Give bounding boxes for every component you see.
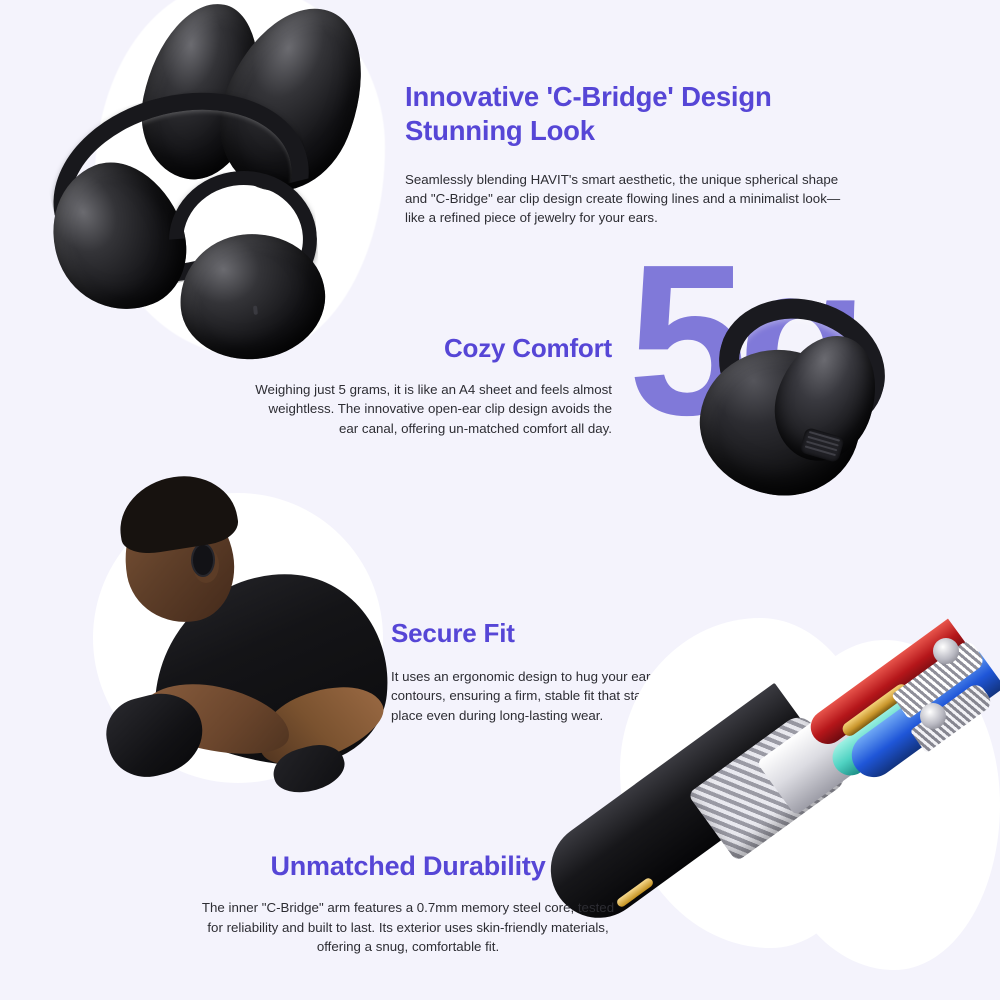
section-body: The inner "C-Bridge" arm features a 0.7m…	[198, 898, 618, 956]
cable-strand-tip-lower	[920, 703, 946, 729]
microphone-pinhole-icon	[253, 306, 258, 315]
section-cozy-comfort-text: Cozy Comfort Weighing just 5 grams, it i…	[255, 333, 612, 438]
twin-open-ear-earbuds-photo	[40, 0, 440, 382]
section-unmatched-durability-text: Unmatched Durability The inner "C-Bridge…	[198, 850, 618, 956]
section-heading: Cozy Comfort	[255, 333, 612, 364]
section-c-bridge-design-text: Innovative 'C-Bridge' Design Stunning Lo…	[405, 80, 855, 228]
product-infographic-page: Innovative 'C-Bridge' Design Stunning Lo…	[0, 0, 1000, 1000]
earbud-worn-on-ear	[191, 543, 215, 577]
athlete-wearing-earbud-photo	[85, 455, 405, 815]
single-earbud-photo	[690, 300, 910, 510]
section-heading: Innovative 'C-Bridge' Design Stunning Lo…	[405, 80, 855, 147]
section-body: Weighing just 5 grams, it is like an A4 …	[255, 380, 612, 438]
section-heading: Unmatched Durability	[198, 850, 618, 882]
cable-cross-section-photo	[600, 600, 1000, 1000]
cable-strand-tip-upper	[933, 638, 959, 664]
